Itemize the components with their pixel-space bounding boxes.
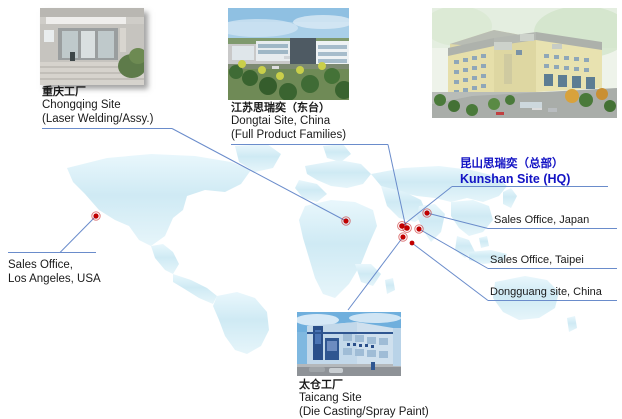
label-los-angeles-line1: Sales Office,: [8, 259, 101, 273]
caption-dongtai-note: (Full Product Families): [231, 129, 346, 143]
marker-chongqing[interactable]: [342, 217, 350, 225]
photo-dongtai: [228, 8, 349, 100]
leader-los-angeles: [60, 216, 96, 253]
caption-dongtai-en: Dongtai Site, China: [231, 115, 346, 129]
caption-dongtai-cn: 江苏思瑞奕（东台）: [231, 102, 346, 115]
photo-taicang: [297, 312, 401, 376]
label-sales-office-taipei: Sales Office, Taipei: [490, 254, 584, 266]
marker-los-angeles[interactable]: [92, 212, 100, 220]
caption-chongqing: 重庆工厂 Chongqing Site (Laser Welding/Assy.…: [42, 86, 153, 126]
photo-kunshan-hq: [432, 8, 617, 118]
label-dongguang-site: Dongguang site, China: [490, 286, 602, 298]
caption-dongtai: 江苏思瑞奕（东台） Dongtai Site, China (Full Prod…: [231, 102, 346, 142]
marker-taicang[interactable]: [399, 233, 407, 241]
label-kunshan-hq: 昆山思瑞奕（总部） Kunshan Site (HQ): [460, 158, 570, 187]
caption-taicang-en: Taicang Site: [299, 392, 429, 406]
caption-chongqing-note: (Laser Welding/Assy.): [42, 113, 153, 127]
leader-chongqing: [172, 129, 346, 222]
leader-taicang: [348, 237, 403, 310]
leader-dongtai: [388, 145, 406, 229]
leader-dongguang: [412, 243, 488, 301]
caption-taicang-cn: 太仓工厂: [299, 379, 429, 392]
map-markers: [92, 209, 431, 246]
photo-chongqing: [40, 8, 144, 85]
leader-taipei: [419, 229, 488, 269]
marker-sales-japan[interactable]: [423, 209, 431, 217]
caption-taicang-note: (Die Casting/Spray Paint): [299, 406, 429, 419]
label-sales-office-japan: Sales Office, Japan: [494, 214, 589, 226]
slide-canvas: 重庆工厂 Chongqing Site (Laser Welding/Assy.…: [0, 0, 622, 418]
label-kunshan-hq-en: Kunshan Site (HQ): [460, 172, 570, 187]
leader-japan: [427, 213, 488, 229]
marker-sales-taipei[interactable]: [415, 225, 423, 233]
leader-kunshan: [402, 187, 452, 227]
marker-dongguang[interactable]: [410, 241, 415, 246]
label-sales-office-los-angeles: Sales Office, Los Angeles, USA: [8, 259, 101, 286]
caption-taicang: 太仓工厂 Taicang Site (Die Casting/Spray Pai…: [299, 379, 429, 419]
caption-chongqing-en: Chongqing Site: [42, 99, 153, 113]
caption-chongqing-cn: 重庆工厂: [42, 86, 153, 99]
label-kunshan-hq-cn: 昆山思瑞奕（总部）: [460, 158, 570, 172]
label-los-angeles-line2: Los Angeles, USA: [8, 273, 101, 287]
